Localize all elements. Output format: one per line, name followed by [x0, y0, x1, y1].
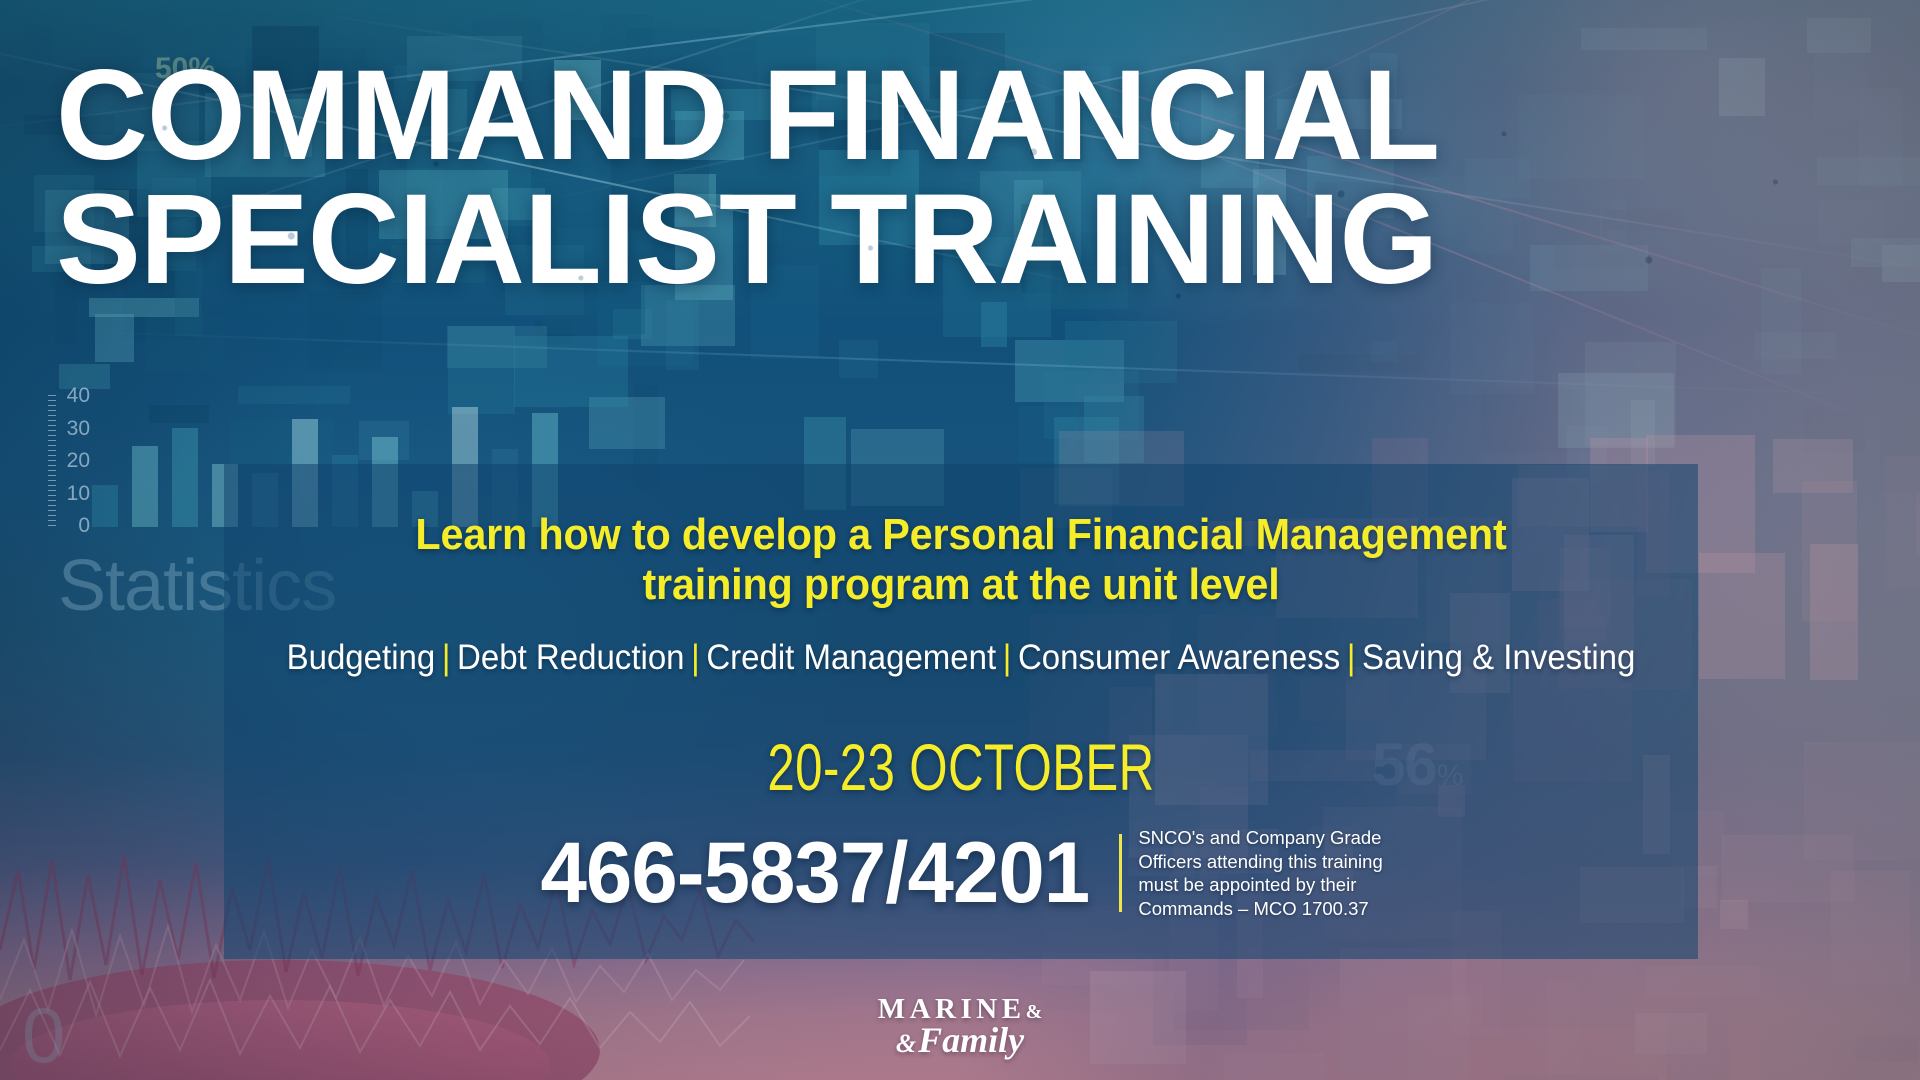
logo-bottom-ampersand: & [896, 1029, 916, 1058]
info-panel: Learn how to develop a Personal Financia… [224, 464, 1698, 959]
topic-item: Debt Reduction [457, 638, 685, 677]
phone-number: 466-5837/4201 [540, 830, 1089, 916]
background-axis-ruler [48, 395, 56, 527]
topic-item: Budgeting [287, 638, 436, 677]
topic-item: Consumer Awareness [1018, 638, 1340, 677]
headline-text: Learn how to develop a Personal Financia… [268, 510, 1654, 610]
topic-item: Credit Management [706, 638, 996, 677]
poster-canvas: Statistics 56% 50% 0 403020100 COMMAND F… [0, 0, 1920, 1080]
axis-tick-label: 40 [56, 384, 90, 408]
date-text: 20-23 OCTOBER [411, 729, 1511, 805]
marine-family-logo: MARINE& &Family [0, 995, 1920, 1058]
axis-tick-label: 20 [56, 449, 90, 473]
contact-row: 466-5837/4201 SNCO's and Company Grade O… [224, 826, 1698, 921]
axis-tick-label: 0 [56, 514, 90, 538]
logo-bottom-text: &Family [0, 1022, 1920, 1058]
axis-tick-label: 30 [56, 417, 90, 441]
fine-print-text: SNCO's and Company Grade Officers attend… [1138, 826, 1390, 921]
topic-separator: | [1003, 638, 1012, 677]
title-line-2: SPECIALIST TRAINING [56, 186, 1856, 294]
background-axis: 403020100 [38, 395, 90, 525]
axis-tick-label: 10 [56, 482, 90, 506]
logo-family-word: Family [918, 1020, 1024, 1060]
vertical-divider [1119, 834, 1122, 912]
topic-separator: | [1347, 638, 1356, 677]
topic-item: Saving & Investing [1362, 638, 1635, 677]
topic-separator: | [691, 638, 700, 677]
topic-separator: | [442, 638, 451, 677]
poster-title: COMMAND FINANCIAL SPECIALIST TRAINING [56, 62, 1866, 293]
title-line-1: COMMAND FINANCIAL [56, 62, 1856, 170]
logo-ampersand: & [1026, 1001, 1043, 1023]
topics-list: Budgeting|Debt Reduction|Credit Manageme… [266, 638, 1656, 678]
